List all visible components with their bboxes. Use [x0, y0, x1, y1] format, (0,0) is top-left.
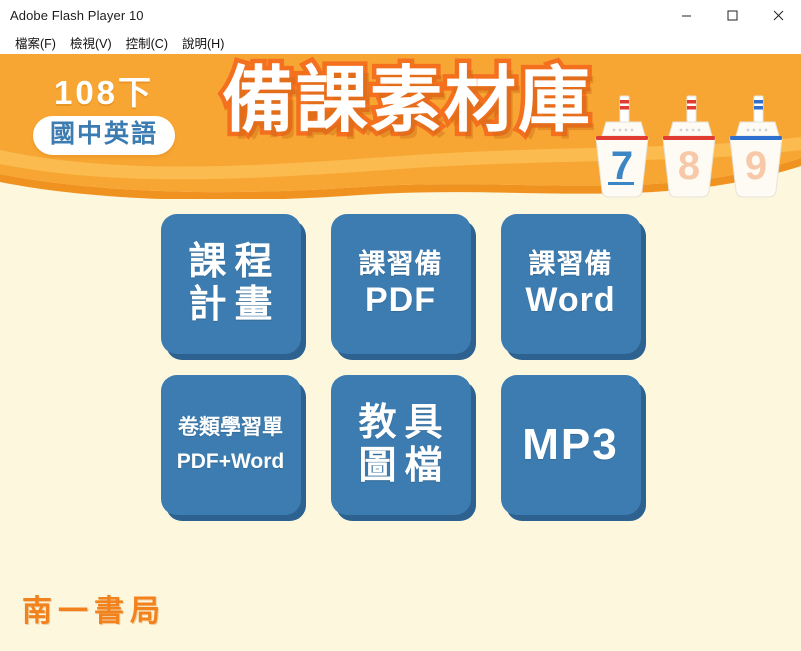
footer-bar: 南一書局	[0, 589, 801, 651]
resource-grid-row-1: 課程 計畫 課習備 PDF 課習備 Word	[0, 214, 801, 354]
boat-icon-8: 8	[659, 94, 719, 199]
tile-course-plan[interactable]: 課程 計畫	[161, 214, 301, 354]
flash-stage: 108下 國中英語 備課素材庫	[0, 54, 801, 651]
minimize-icon	[681, 10, 692, 21]
tile-teaching-aids[interactable]: 教具 圖檔	[331, 375, 471, 515]
boat-icons-group: 7	[592, 94, 792, 199]
svg-text:7: 7	[611, 144, 633, 188]
header-banner: 108下 國中英語 備課素材庫	[0, 54, 801, 199]
tile-mp3[interactable]: MP3	[501, 375, 641, 515]
tile-label-line2: 圖檔	[350, 445, 450, 488]
tile-label-line2: 計畫	[180, 284, 280, 327]
tile-lesson-prep-pdf[interactable]: 課習備 PDF	[331, 214, 471, 354]
page-title: 備課素材庫	[222, 64, 592, 140]
menu-item-file[interactable]: 檔案(F)	[8, 31, 63, 54]
resource-grid: 課程 計畫 課習備 PDF 課習備 Word 卷類學習單 PDF+Word	[0, 214, 801, 515]
menu-item-help[interactable]: 說明(H)	[175, 31, 231, 54]
tile-label-line2: Word	[525, 281, 615, 319]
grade-block: 108下 國中英語	[18, 76, 190, 155]
boat-icon-9: 9	[726, 94, 786, 199]
grade-year-label: 108下	[18, 76, 190, 109]
tile-lesson-prep-word[interactable]: 課習備 Word	[501, 214, 641, 354]
banner-content: 108下 國中英語 備課素材庫	[0, 54, 801, 199]
brand-logo: 南一書局	[22, 597, 166, 627]
tile-label-line1: MP3	[522, 420, 618, 469]
maximize-button[interactable]	[709, 0, 755, 30]
menu-item-view[interactable]: 檢視(V)	[63, 31, 119, 54]
close-icon	[773, 10, 784, 21]
maximize-icon	[727, 10, 738, 21]
tile-label-line1: 卷類學習單	[178, 416, 283, 440]
close-button[interactable]	[755, 0, 801, 30]
svg-text:8: 8	[678, 144, 700, 188]
tile-label-line1: 課程	[180, 241, 280, 284]
menubar: 檔案(F) 檢視(V) 控制(C) 說明(H)	[0, 30, 801, 54]
boat-icon-7: 7	[592, 94, 652, 199]
subject-pill: 國中英語	[33, 116, 175, 155]
titlebar: Adobe Flash Player 10	[0, 0, 801, 30]
tile-label-line1: 課習備	[529, 249, 613, 279]
menu-item-control[interactable]: 控制(C)	[119, 31, 175, 54]
tile-label-line1: 課習備	[359, 249, 443, 279]
window-controls	[663, 0, 801, 30]
flash-player-window: Adobe Flash Player 10 檔案(F) 檢視(V	[0, 0, 801, 651]
tile-worksheets[interactable]: 卷類學習單 PDF+Word	[161, 375, 301, 515]
tile-label-line2: PDF	[365, 281, 436, 319]
svg-text:9: 9	[745, 144, 767, 188]
resource-grid-row-2: 卷類學習單 PDF+Word 教具 圖檔 MP3	[0, 375, 801, 515]
minimize-button[interactable]	[663, 0, 709, 30]
tile-label-line1: 教具	[350, 402, 450, 445]
tile-label-line2: PDF+Word	[177, 450, 285, 474]
window-title: Adobe Flash Player 10	[10, 8, 144, 23]
